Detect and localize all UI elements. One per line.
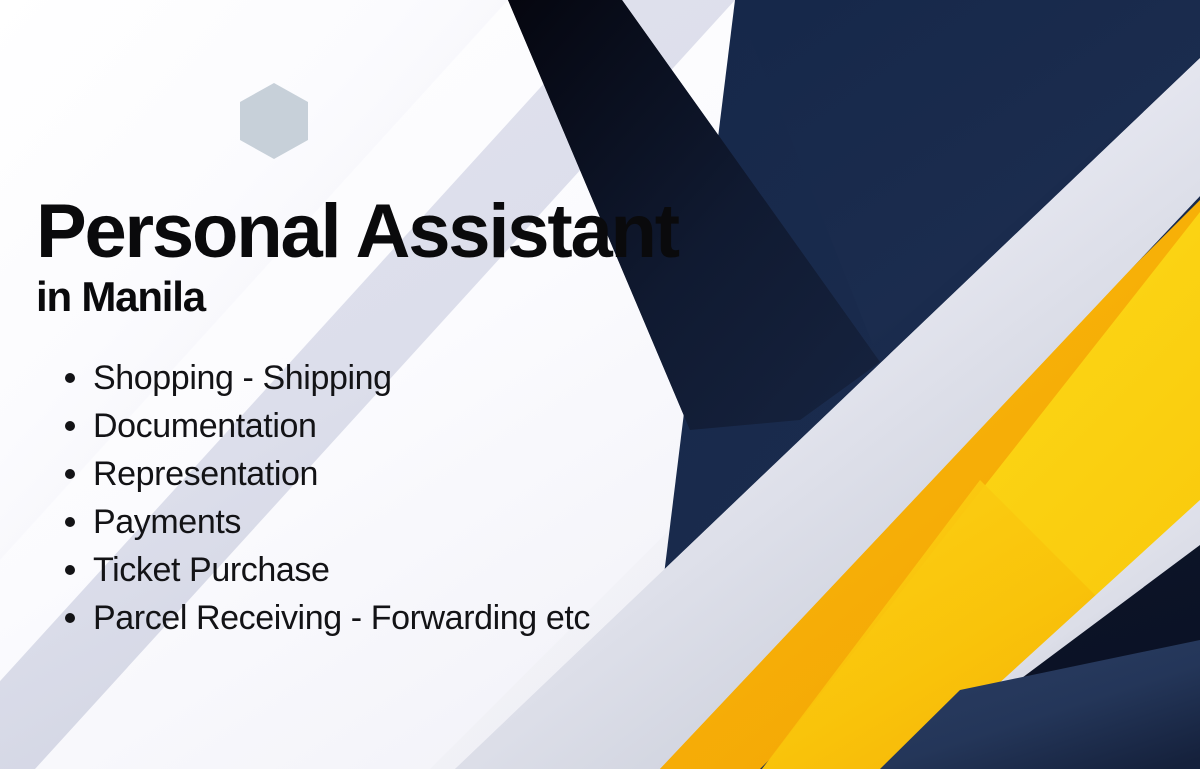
list-item-label: Shopping - Shipping	[93, 359, 392, 398]
list-item: Documentation	[58, 402, 718, 450]
list-item: Payments	[58, 498, 718, 546]
hexagon-icon	[234, 81, 314, 161]
list-item: Shopping - Shipping	[58, 354, 718, 402]
list-item-label: Documentation	[93, 407, 317, 446]
list-item-label: Ticket Purchase	[93, 551, 330, 590]
bullet-icon	[65, 421, 75, 431]
bullet-icon	[65, 517, 75, 527]
page-title: Personal Assistant	[36, 196, 678, 268]
service-list: Shopping - Shipping Documentation Repres…	[58, 354, 718, 642]
bullet-icon	[65, 373, 75, 383]
list-item-label: Representation	[93, 455, 318, 494]
bullet-icon	[65, 613, 75, 623]
list-item-label: Parcel Receiving - Forwarding etc	[93, 599, 590, 638]
bullet-icon	[65, 469, 75, 479]
page-subtitle: in Manila	[36, 276, 678, 318]
bullet-icon	[65, 565, 75, 575]
list-item-label: Payments	[93, 503, 241, 542]
list-item: Ticket Purchase	[58, 546, 718, 594]
list-item: Parcel Receiving - Forwarding etc	[58, 594, 718, 642]
list-item: Representation	[58, 450, 718, 498]
poster-canvas: Personal Assistant in Manila Shopping - …	[0, 0, 1200, 769]
headline-block: Personal Assistant in Manila	[36, 196, 678, 318]
